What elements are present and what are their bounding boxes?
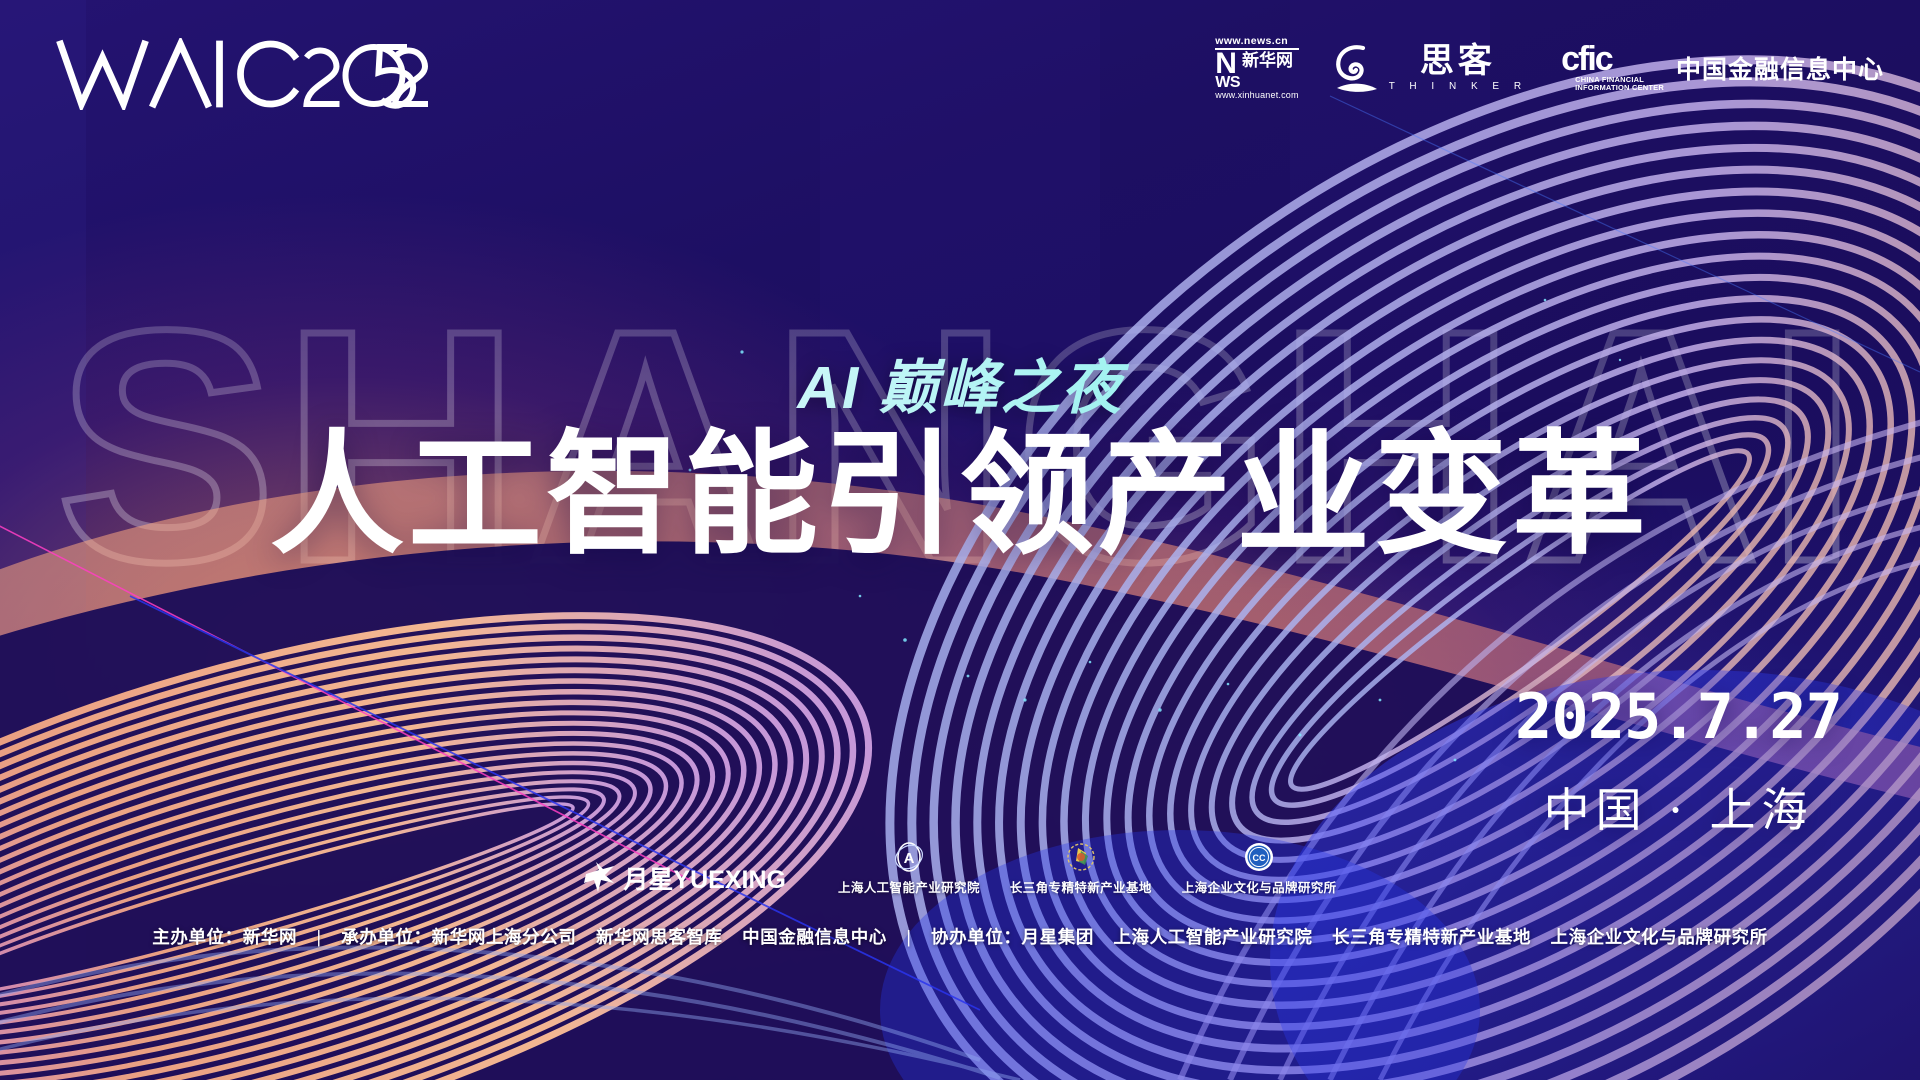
brand-seal-icon: CC — [1243, 840, 1275, 874]
xinhua-letter-n: N — [1215, 52, 1240, 77]
credit-sep-2: | — [892, 927, 925, 947]
credit-organizer-2: 新华网思客智库 — [596, 927, 723, 947]
xinhua-url-top: www.news.cn — [1215, 36, 1288, 47]
credit-sep-1: | — [303, 927, 336, 947]
sponsor-logo-row: 月星YUEXING A 上海人工智能产业研究院 长三 — [0, 840, 1920, 896]
xinhua-name-cn: 新华网 — [1242, 52, 1293, 69]
cfic-name-cn: 中国金融信息中心 — [1676, 50, 1884, 86]
cfic-logo: cfic CHINA FINANCIAL INFORMATION CENTER … — [1561, 43, 1884, 93]
sponsor-shanghai-ai-institute: A 上海人工智能产业研究院 — [838, 840, 980, 896]
poster-header: www.news.cn N WS 新华网 www.xinhuanet.com — [0, 0, 1920, 150]
delta-base-icon — [1065, 840, 1097, 874]
sponsor-yuexing: 月星YUEXING — [583, 860, 786, 896]
svg-text:CC: CC — [1253, 853, 1266, 863]
partner-logo-group: www.news.cn N WS 新华网 www.xinhuanet.com — [1215, 36, 1884, 100]
credit-host: 主办单位：新华网 — [152, 927, 297, 947]
svg-text:A: A — [903, 850, 914, 867]
event-subtitle: AI 巅峰之夜 — [0, 340, 1920, 425]
credit-organizer: 承办单位：新华网上海分公司 — [341, 927, 576, 947]
xinhua-logo: www.news.cn N WS 新华网 www.xinhuanet.com — [1215, 36, 1298, 100]
cfic-wordmark: cfic — [1561, 43, 1664, 75]
sponsor-yuexing-label: 月星YUEXING — [623, 860, 786, 896]
credit-coorganizer-2: 上海人工智能产业研究院 — [1113, 927, 1312, 947]
thinker-logo: 思客 T H I N K E R — [1333, 42, 1527, 94]
thinker-name-en: T H I N K E R — [1389, 81, 1527, 92]
xinhua-letter-ws: WS — [1215, 76, 1240, 90]
sponsor-brand-institute: CC 上海企业文化与品牌研究所 — [1182, 840, 1337, 896]
event-headline: 人工智能引领产业变革 — [0, 428, 1920, 565]
event-date: 2025.7.27 — [1515, 686, 1842, 748]
credit-coorganizer: 协办单位：月星集团 — [931, 927, 1094, 947]
credits-bar: 主办单位：新华网 | 承办单位：新华网上海分公司 新华网思客智库 中国金融信息中… — [0, 924, 1920, 949]
poster-canvas: SHANGHAI — [0, 0, 1920, 1080]
xinhua-url-bottom: www.xinhuanet.com — [1215, 91, 1298, 100]
event-location: 中国 · 上海 — [1515, 774, 1842, 840]
ai-globe-icon: A — [893, 840, 925, 874]
yuexing-star-icon — [583, 861, 617, 895]
thinker-swirl-icon — [1333, 42, 1379, 94]
cfic-sub-line2: INFORMATION CENTER — [1575, 84, 1664, 93]
sponsor-label: 长三角专精特新产业基地 — [1010, 877, 1152, 896]
credit-coorganizer-3: 长三角专精特新产业基地 — [1332, 927, 1531, 947]
sponsor-yangtze-delta-base: 长三角专精特新产业基地 — [1010, 840, 1152, 896]
thinker-name-cn: 思客 — [1420, 44, 1496, 78]
date-location-block: 2025.7.27 中国 · 上海 — [1515, 686, 1842, 840]
waic-logo — [56, 38, 446, 110]
credit-organizer-3: 中国金融信息中心 — [742, 927, 887, 947]
sponsor-label: 上海企业文化与品牌研究所 — [1182, 877, 1337, 896]
credit-coorganizer-4: 上海企业文化与品牌研究所 — [1551, 927, 1768, 947]
sponsor-label: 上海人工智能产业研究院 — [838, 877, 980, 896]
